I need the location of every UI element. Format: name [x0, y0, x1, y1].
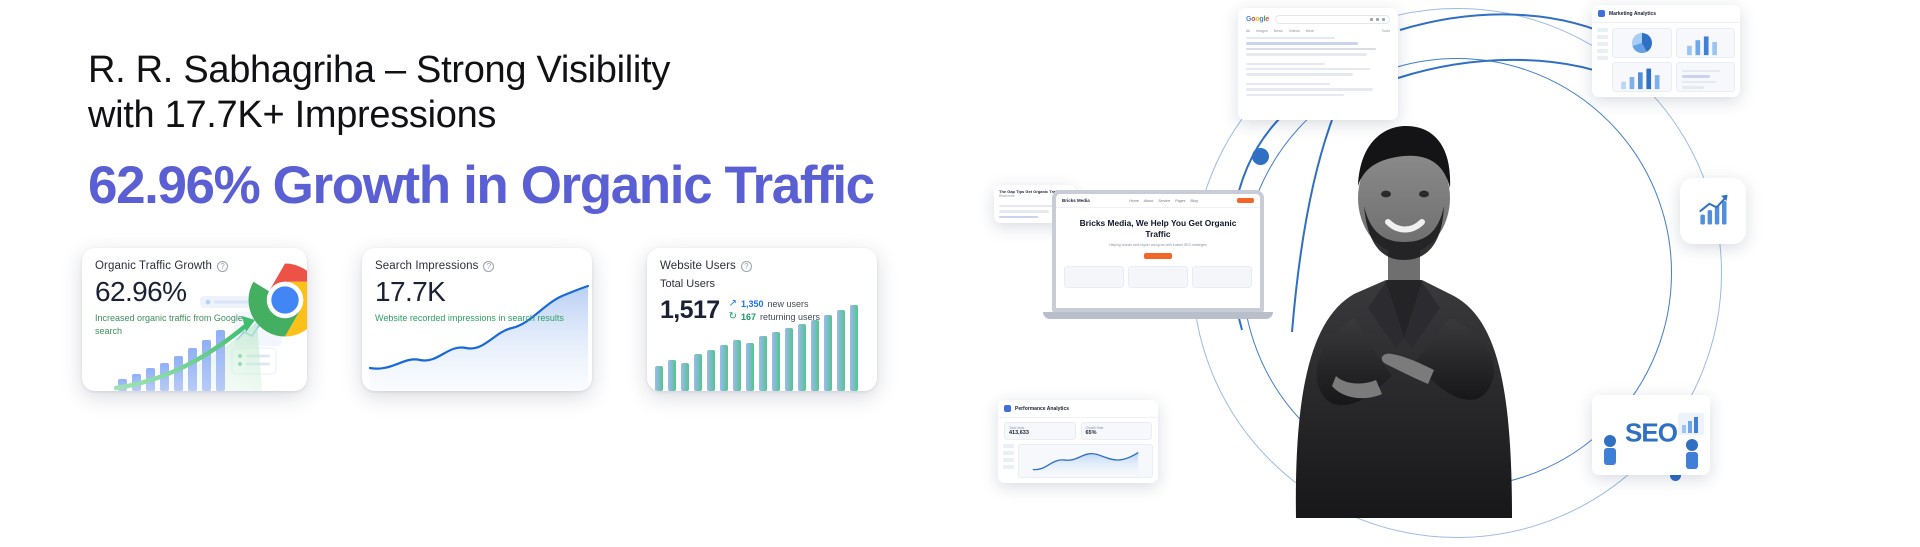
kpi-total-visits: Total Visits 413,633	[1004, 422, 1076, 440]
card-title: Marketing Analytics	[1609, 11, 1656, 17]
help-icon[interactable]: ?	[217, 261, 228, 272]
card-title-text: Search Impressions	[375, 260, 478, 272]
widget-grid	[1612, 28, 1735, 92]
help-icon[interactable]: ?	[741, 261, 752, 272]
card-header: Performance Analytics	[998, 400, 1158, 418]
help-icon[interactable]: ?	[483, 261, 494, 272]
metric-cards-row: Organic Traffic Growth ? 62.96% Increase…	[82, 248, 877, 391]
laptop-mockup[interactable]: Bricks Media Home About Service Pages Bl…	[1052, 190, 1264, 319]
stat-returning-users-label: returning users	[760, 312, 820, 322]
side-nav-rail[interactable]	[1003, 444, 1014, 478]
card-title-text: Website Users	[660, 260, 736, 272]
stat-returning-users-value: 167	[741, 312, 756, 322]
card-subtitle: Total Users	[660, 278, 877, 290]
stat-new-users-value: 1,350	[741, 299, 764, 309]
marketing-analytics-card[interactable]: Marketing Analytics	[1592, 5, 1740, 97]
banner-headline: 62.96% Growth in Organic Traffic	[88, 158, 988, 214]
stat-new-users-label: new users	[767, 299, 808, 309]
list-widget	[1676, 62, 1736, 92]
side-nav-rail[interactable]	[1597, 28, 1608, 92]
kpi-row: Total Visits 413,633 Growth Rate 65%	[998, 418, 1158, 440]
growth-chart-badge-icon	[1680, 178, 1746, 244]
site-cta-button[interactable]	[1237, 198, 1254, 203]
nav-link-service[interactable]: Service	[1158, 199, 1170, 203]
bar-chart-up-icon	[1695, 193, 1731, 229]
app-icon	[1598, 10, 1605, 17]
stat-new-users: ↗ 1,350 new users	[729, 299, 820, 309]
hero-sub: Helping brands rank higher and grow with…	[1066, 243, 1250, 248]
site-brand: Bricks Media	[1062, 198, 1090, 203]
card-organic-traffic-growth[interactable]: Organic Traffic Growth ? 62.96% Increase…	[82, 248, 307, 391]
card-search-impressions[interactable]: Search Impressions ? 17.7K Website recor…	[362, 248, 592, 391]
copy-block: R. R. Sabhagriha – Strong Visibility wit…	[88, 48, 988, 213]
banner-subhead: R. R. Sabhagriha – Strong Visibility wit…	[88, 48, 988, 138]
performance-analytics-card[interactable]: Performance Analytics Total Visits 413,6…	[998, 400, 1158, 483]
site-nav[interactable]: Bricks Media Home About Service Pages Bl…	[1056, 194, 1260, 208]
card-title-text: Organic Traffic Growth	[95, 260, 212, 272]
card-body	[1592, 23, 1740, 97]
laptop-screen: Bricks Media Home About Service Pages Bl…	[1052, 190, 1264, 312]
site-hero: Bricks Media, We Help You Get Organic Tr…	[1056, 208, 1260, 259]
card-note: Website recorded impressions in search r…	[375, 312, 575, 325]
card-value: 17.7K	[375, 277, 592, 308]
feature-tile	[1064, 266, 1124, 288]
arrow-up-right-icon: ↗	[729, 299, 737, 309]
card-website-users[interactable]: Website Users ? Total Users 1,517 ↗ 1,35…	[647, 248, 877, 391]
stat-returning-users: ↻ 167 returning users	[729, 312, 820, 322]
bar-widget-2	[1612, 62, 1672, 92]
seo-badge-card[interactable]: SEO	[1592, 395, 1710, 475]
nav-link-blog[interactable]: Blog	[1190, 199, 1197, 203]
mini-bar-chart	[1677, 29, 1735, 57]
nav-link-home[interactable]: Home	[1129, 199, 1139, 203]
donut-widget	[1612, 28, 1672, 58]
banner-root: R. R. Sabhagriha – Strong Visibility wit…	[0, 0, 1920, 547]
refresh-icon: ↻	[729, 312, 737, 322]
card-title: Performance Analytics	[1015, 406, 1069, 412]
app-icon	[1004, 405, 1011, 412]
bar-widget	[1676, 28, 1736, 58]
nav-links[interactable]: Home About Service Pages Blog	[1129, 199, 1197, 203]
site-feature-tiles	[1056, 259, 1260, 288]
card-header: Marketing Analytics	[1592, 5, 1740, 23]
kpi-growth-rate: Growth Rate 65%	[1081, 422, 1153, 440]
laptop-base	[1043, 312, 1273, 319]
card-title-row: Search Impressions ?	[375, 260, 592, 272]
card-value: 1,517	[660, 297, 720, 325]
donut-chart	[1632, 33, 1652, 53]
card-body	[998, 440, 1158, 483]
kpi-value: 65%	[1086, 430, 1148, 436]
users-stats: ↗ 1,350 new users ↻ 167 returning users	[729, 295, 820, 322]
nav-link-about[interactable]: About	[1144, 199, 1153, 203]
hero-title: Bricks Media, We Help You Get Organic Tr…	[1066, 218, 1250, 239]
presenter-photo	[1236, 18, 1566, 518]
feature-tile	[1128, 266, 1188, 288]
trend-widget	[1018, 444, 1153, 478]
card-note: Increased organic traffic from Google se…	[95, 312, 245, 338]
illustration-area: Google All Images News Videos More Tools	[980, 0, 1920, 547]
card-value: 62.96%	[95, 277, 307, 308]
mini-bar-chart-2	[1613, 63, 1671, 91]
kpi-value: 413,633	[1009, 430, 1071, 436]
nav-link-pages[interactable]: Pages	[1175, 199, 1185, 203]
feature-tile	[1192, 266, 1252, 288]
seo-label: SEO	[1625, 417, 1677, 448]
card-title-row: Website Users ?	[660, 260, 877, 272]
mini-area-chart	[1019, 445, 1152, 477]
card-title-row: Organic Traffic Growth ?	[95, 260, 307, 272]
users-summary-row: 1,517 ↗ 1,350 new users ↻ 167 returning …	[660, 292, 877, 325]
